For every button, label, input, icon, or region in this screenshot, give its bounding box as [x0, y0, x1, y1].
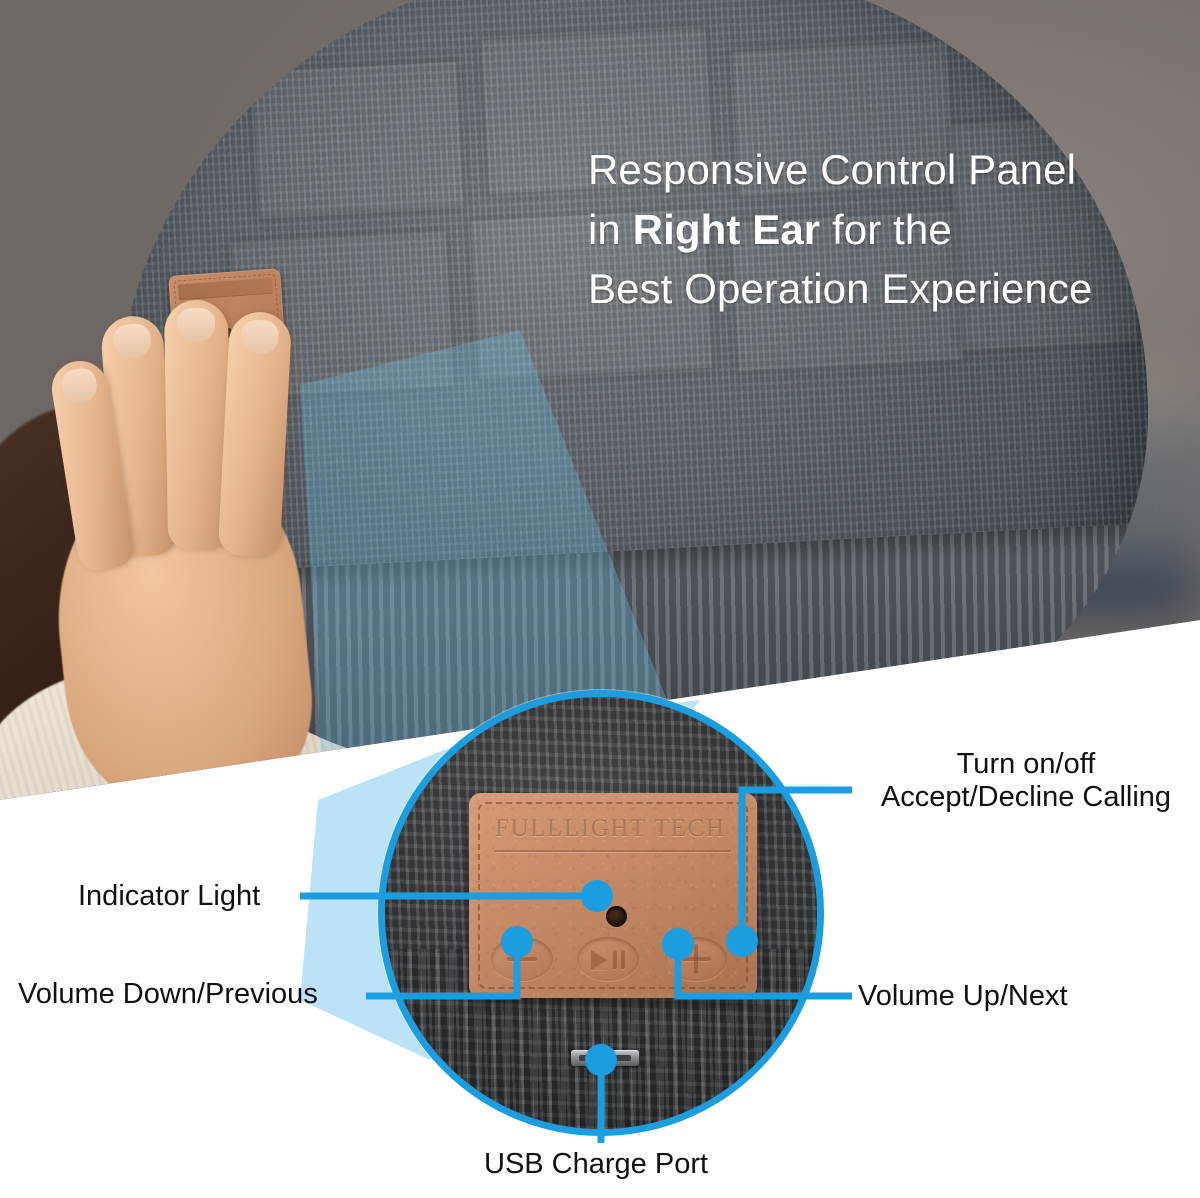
play-pause-button[interactable] — [577, 937, 639, 981]
patch-brand-embossing — [178, 278, 273, 301]
callout-label-indicator-light: Indicator Light — [78, 880, 260, 913]
headline-line-2-prefix: in — [588, 206, 633, 253]
model-finger — [218, 311, 293, 558]
infographic-canvas: Responsive Control Panel in Right Ear fo… — [0, 0, 1200, 1198]
knit-block — [249, 59, 467, 220]
fingernail — [60, 367, 98, 406]
fingernail — [241, 319, 280, 355]
volume-down-button[interactable] — [491, 937, 553, 981]
pause-icon-bar — [613, 950, 617, 969]
fingernail — [113, 323, 152, 360]
callout-label-volume-down: Volume Down/Previous — [18, 978, 318, 1011]
minus-icon — [507, 957, 537, 961]
magnified-control-panel: FULLLIGHT TECH — [378, 690, 824, 1136]
callout-label-volume-up: Volume Up/Next — [858, 980, 1068, 1013]
headline-line-1: Responsive Control Panel — [588, 140, 1188, 200]
callout-label-turn-on-off-line1: Turn on/off — [860, 748, 1192, 781]
headline-line-2: in Right Ear for the — [588, 200, 1188, 260]
headline-line-2-suffix: for the — [820, 206, 952, 253]
headline-emphasis-right-ear: Right Ear — [633, 206, 821, 253]
plus-icon-vertical — [694, 944, 698, 974]
indicator-light[interactable] — [606, 906, 627, 927]
play-icon — [591, 950, 607, 970]
headline: Responsive Control Panel in Right Ear fo… — [588, 140, 1188, 319]
callout-label-usb-port: USB Charge Port — [484, 1148, 708, 1181]
leather-control-patch: FULLLIGHT TECH — [469, 793, 757, 998]
brand-underline — [495, 850, 731, 852]
headline-line-3: Best Operation Experience — [588, 259, 1188, 319]
brand-logo-text: FULLLIGHT TECH — [495, 815, 731, 843]
callout-label-turn-on-off: Turn on/off Accept/Decline Calling — [860, 748, 1192, 814]
volume-up-button[interactable] — [665, 937, 727, 981]
pause-icon-bar — [621, 950, 625, 969]
usb-charge-port[interactable] — [571, 1050, 639, 1066]
callout-label-turn-on-off-line2: Accept/Decline Calling — [860, 781, 1192, 814]
fingernail — [177, 308, 216, 343]
